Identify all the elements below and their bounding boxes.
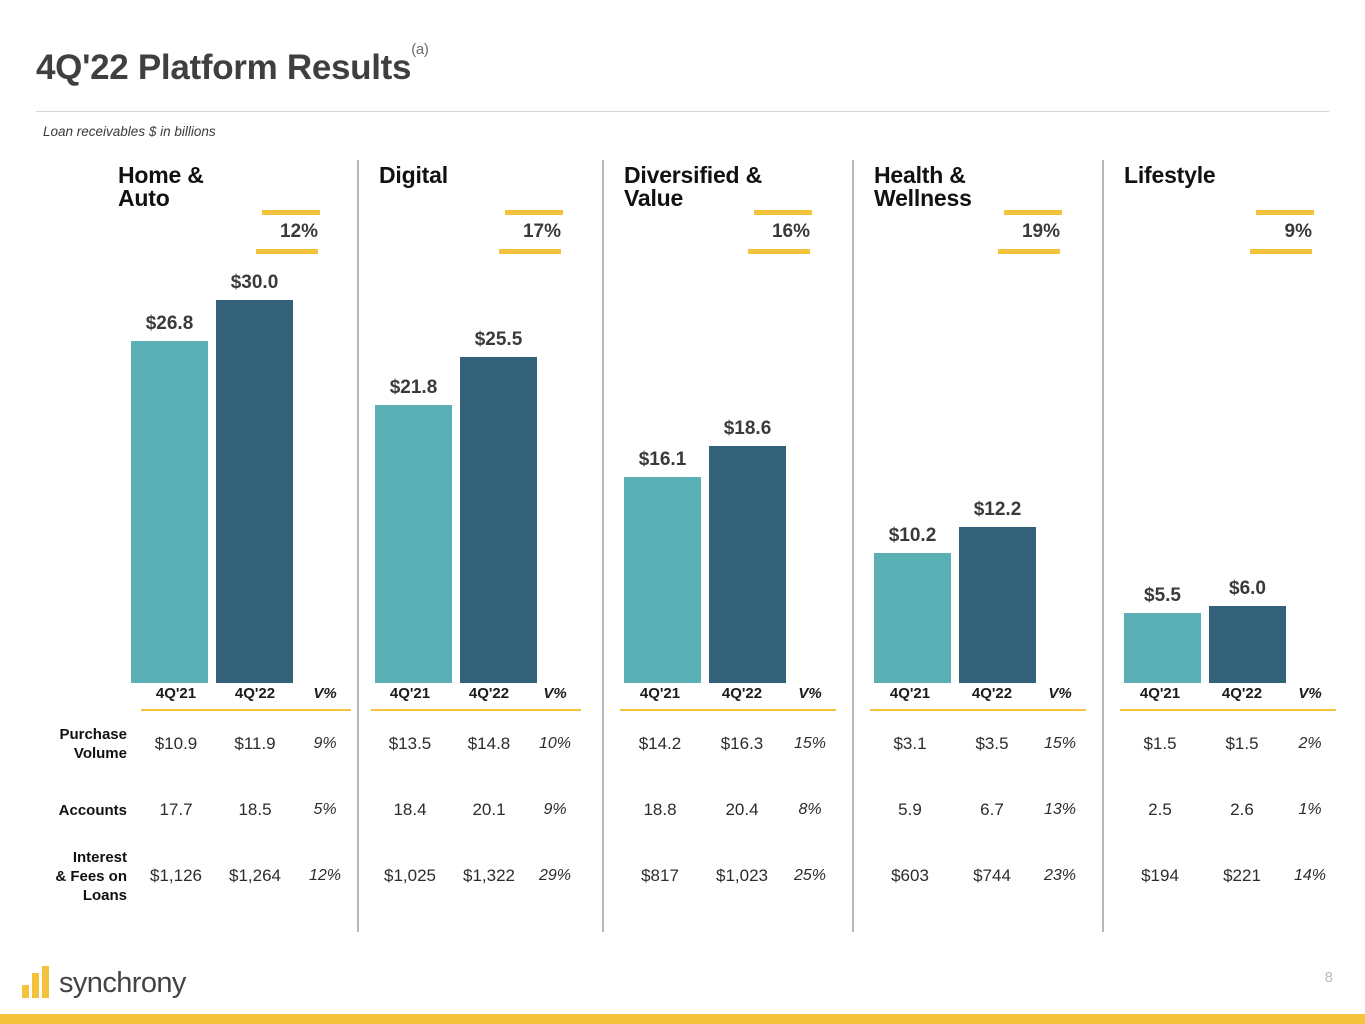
cell-vpct: 25% xyxy=(784,843,836,909)
cell-q22: $3.5 xyxy=(950,710,1034,777)
cell-vpct: 5% xyxy=(299,777,351,843)
header-divider xyxy=(36,111,1329,112)
cell-q21: $817 xyxy=(620,843,700,909)
cell-vpct: 23% xyxy=(1034,843,1086,909)
table-row: Purchase Volume$10.9$11.99% xyxy=(0,710,351,777)
cell-q21: $13.5 xyxy=(371,710,449,777)
bar-group: $30.0 xyxy=(216,158,293,683)
table-header-row: 4Q'214Q'22V% xyxy=(870,685,1086,710)
page-title-text: 4Q'22 Platform Results xyxy=(36,48,411,87)
slide-header: 4Q'22 Platform Results(a) Loan receivabl… xyxy=(0,0,1365,112)
column-header-q22: 4Q'22 xyxy=(1200,685,1284,710)
table-row: 18.420.19% xyxy=(371,777,581,843)
bar-group: $21.8 xyxy=(375,158,452,683)
cell-q21: 18.8 xyxy=(620,777,700,843)
platform-panel: Health & Wellness19%$10.2$12.24Q'214Q'22… xyxy=(852,158,1102,933)
cell-q22: 20.1 xyxy=(449,777,529,843)
cell-q22: $1,322 xyxy=(449,843,529,909)
page-number: 8 xyxy=(1325,969,1333,986)
cell-vpct: 2% xyxy=(1284,710,1336,777)
cell-q22: $744 xyxy=(950,843,1034,909)
column-header-vpct: V% xyxy=(529,685,581,710)
column-header-q22: 4Q'22 xyxy=(449,685,529,710)
table-row: $1.5$1.52% xyxy=(1120,710,1336,777)
column-header-q21: 4Q'21 xyxy=(1120,685,1200,710)
bar-value-label: $26.8 xyxy=(131,313,208,335)
cell-vpct: 9% xyxy=(529,777,581,843)
cell-q22: $11.9 xyxy=(211,710,299,777)
subtitle: Loan receivables $ in billions xyxy=(43,124,216,139)
column-header-q22: 4Q'22 xyxy=(700,685,784,710)
bar-value-label: $12.2 xyxy=(959,499,1036,521)
panel-divider xyxy=(602,160,604,932)
table-header-row: 4Q'214Q'22V% xyxy=(371,685,581,710)
table-header-row: 4Q'214Q'22V% xyxy=(620,685,836,710)
bar-prior-year xyxy=(624,477,701,683)
column-header-q21: 4Q'21 xyxy=(870,685,950,710)
column-header-q22: 4Q'22 xyxy=(211,685,299,710)
column-header-q21: 4Q'21 xyxy=(141,685,211,710)
bar-current-year xyxy=(460,357,537,683)
cell-vpct: 15% xyxy=(1034,710,1086,777)
cell-vpct: 12% xyxy=(299,843,351,909)
cell-q22: 6.7 xyxy=(950,777,1034,843)
bar-value-label: $10.2 xyxy=(874,525,951,547)
bar-group: $6.0 xyxy=(1209,158,1286,683)
platform-metrics-table: 4Q'214Q'22V%$13.5$14.810%18.420.19%$1,02… xyxy=(371,685,581,909)
cell-vpct: 9% xyxy=(299,710,351,777)
bar-prior-year xyxy=(1124,613,1201,683)
cell-vpct: 13% xyxy=(1034,777,1086,843)
cell-vpct: 15% xyxy=(784,710,836,777)
bar-prior-year xyxy=(874,553,951,683)
platform-panel: Home & Auto12%$26.8$30.04Q'214Q'22V%Purc… xyxy=(0,158,357,933)
synchrony-logo: synchrony xyxy=(22,958,186,998)
bar-prior-year xyxy=(375,405,452,683)
table-row: $14.2$16.315% xyxy=(620,710,836,777)
bar-current-year xyxy=(709,446,786,683)
cell-q22: 2.6 xyxy=(1200,777,1284,843)
cell-q22: 18.5 xyxy=(211,777,299,843)
bar-current-year xyxy=(1209,606,1286,683)
table-header-row: 4Q'214Q'22V% xyxy=(0,685,351,710)
table-row: $3.1$3.515% xyxy=(870,710,1086,777)
cell-q22: 20.4 xyxy=(700,777,784,843)
bar-prior-year xyxy=(131,341,208,683)
cell-q21: $1,025 xyxy=(371,843,449,909)
bar-value-label: $30.0 xyxy=(216,272,293,294)
cell-q21: $3.1 xyxy=(870,710,950,777)
platform-metrics-table: 4Q'214Q'22V%Purchase Volume$10.9$11.99%A… xyxy=(0,685,351,909)
bar-group: $26.8 xyxy=(131,158,208,683)
cell-q21: $1,126 xyxy=(141,843,211,909)
column-header-q21: 4Q'21 xyxy=(371,685,449,710)
logo-wordmark: synchrony xyxy=(59,968,186,998)
cell-vpct: 10% xyxy=(529,710,581,777)
bar-group: $18.6 xyxy=(709,158,786,683)
bar-group: $5.5 xyxy=(1124,158,1201,683)
table-row: Interest & Fees on Loans$1,126$1,26412% xyxy=(0,843,351,909)
cell-q22: $221 xyxy=(1200,843,1284,909)
bar-current-year xyxy=(959,527,1036,683)
cell-q21: 5.9 xyxy=(870,777,950,843)
bar-value-label: $25.5 xyxy=(460,329,537,351)
cell-q21: $1.5 xyxy=(1120,710,1200,777)
platform-panel: Lifestyle9%$5.5$6.04Q'214Q'22V%$1.5$1.52… xyxy=(1102,158,1365,933)
cell-q21: $194 xyxy=(1120,843,1200,909)
cell-vpct: 8% xyxy=(784,777,836,843)
bar-value-label: $16.1 xyxy=(624,449,701,471)
cell-vpct: 29% xyxy=(529,843,581,909)
panel-divider xyxy=(357,160,359,932)
cell-q22: $1,023 xyxy=(700,843,784,909)
platform-metrics-table: 4Q'214Q'22V%$1.5$1.52%2.52.61%$194$22114… xyxy=(1120,685,1336,909)
bar-value-label: $18.6 xyxy=(709,418,786,440)
bar-group: $12.2 xyxy=(959,158,1036,683)
cell-q22: $16.3 xyxy=(700,710,784,777)
footer-accent-strip xyxy=(0,1014,1365,1024)
bar-group: $25.5 xyxy=(460,158,537,683)
table-row: $194$22114% xyxy=(1120,843,1336,909)
bar-current-year xyxy=(216,300,293,683)
platform-metrics-table: 4Q'214Q'22V%$3.1$3.515%5.96.713%$603$744… xyxy=(870,685,1086,909)
table-row: $603$74423% xyxy=(870,843,1086,909)
row-label: Purchase Volume xyxy=(0,710,141,777)
cell-vpct: 1% xyxy=(1284,777,1336,843)
column-header-q21: 4Q'21 xyxy=(620,685,700,710)
table-row: Accounts17.718.55% xyxy=(0,777,351,843)
table-row: 5.96.713% xyxy=(870,777,1086,843)
bar-value-label: $21.8 xyxy=(375,377,452,399)
panel-divider xyxy=(1102,160,1104,932)
table-row: 18.820.48% xyxy=(620,777,836,843)
footnote-marker: (a) xyxy=(411,41,428,58)
table-row: 2.52.61% xyxy=(1120,777,1336,843)
cell-vpct: 14% xyxy=(1284,843,1336,909)
bar-value-label: $6.0 xyxy=(1209,578,1286,600)
cell-q21: $14.2 xyxy=(620,710,700,777)
logo-bars-icon xyxy=(22,966,52,998)
cell-q21: 17.7 xyxy=(141,777,211,843)
cell-q21: $603 xyxy=(870,843,950,909)
cell-q21: 18.4 xyxy=(371,777,449,843)
table-header-row: 4Q'214Q'22V% xyxy=(1120,685,1336,710)
table-row: $1,025$1,32229% xyxy=(371,843,581,909)
bar-group: $10.2 xyxy=(874,158,951,683)
bar-value-label: $5.5 xyxy=(1124,585,1201,607)
cell-q22: $1.5 xyxy=(1200,710,1284,777)
column-header-vpct: V% xyxy=(1284,685,1336,710)
row-label: Accounts xyxy=(0,777,141,843)
table-row: $13.5$14.810% xyxy=(371,710,581,777)
cell-q22: $1,264 xyxy=(211,843,299,909)
column-header-vpct: V% xyxy=(784,685,836,710)
platform-metrics-table: 4Q'214Q'22V%$14.2$16.315%18.820.48%$817$… xyxy=(620,685,836,909)
bar-group: $16.1 xyxy=(624,158,701,683)
column-header-vpct: V% xyxy=(299,685,351,710)
column-header-vpct: V% xyxy=(1034,685,1086,710)
row-label: Interest & Fees on Loans xyxy=(0,843,141,909)
platform-panel: Diversified & Value16%$16.1$18.64Q'214Q'… xyxy=(602,158,852,933)
column-header-q22: 4Q'22 xyxy=(950,685,1034,710)
cell-q21: 2.5 xyxy=(1120,777,1200,843)
platform-panel: Digital17%$21.8$25.54Q'214Q'22V%$13.5$14… xyxy=(357,158,602,933)
table-row: $817$1,02325% xyxy=(620,843,836,909)
page-title: 4Q'22 Platform Results(a) xyxy=(36,48,429,88)
cell-q21: $10.9 xyxy=(141,710,211,777)
panel-divider xyxy=(852,160,854,932)
platform-panels: Home & Auto12%$26.8$30.04Q'214Q'22V%Purc… xyxy=(0,158,1365,933)
cell-q22: $14.8 xyxy=(449,710,529,777)
